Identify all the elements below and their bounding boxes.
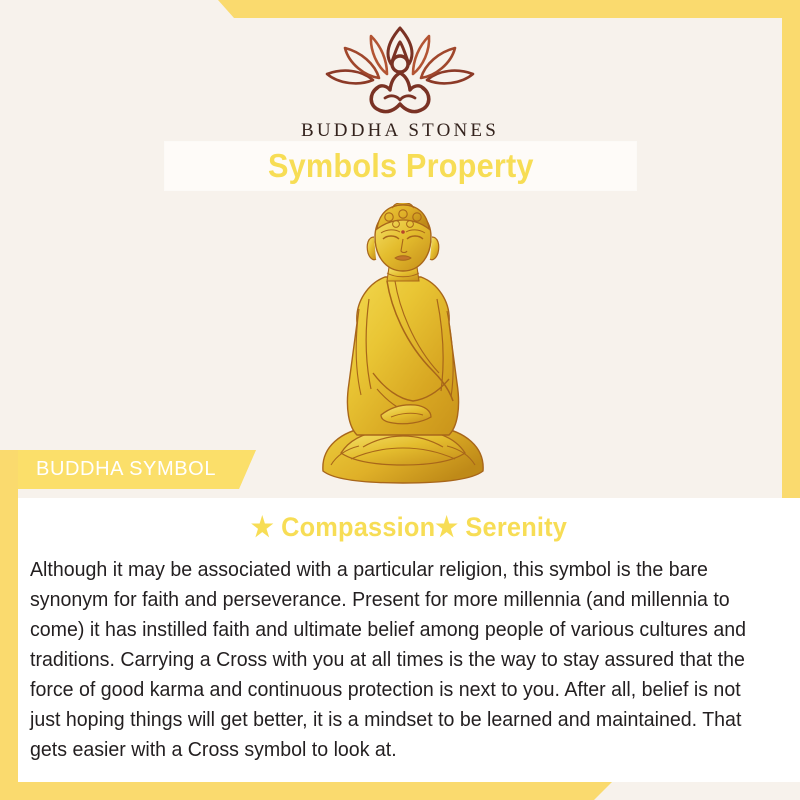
decorative-border-left: [0, 450, 18, 800]
brand-wordmark: BUDDHA STONES: [0, 120, 800, 142]
decorative-corner-bottom-left: [0, 782, 612, 800]
category-ribbon: BUDDHA SYMBOL: [0, 450, 256, 489]
title-banner: Symbols Property: [165, 142, 636, 190]
decorative-corner-top-right: [218, 0, 800, 18]
brand-logo-block: BUDDHA STONES: [0, 24, 800, 142]
description-paragraph: Although it may be associated with a par…: [30, 555, 775, 765]
category-ribbon-label: BUDDHA SYMBOL: [36, 458, 216, 481]
poster-canvas: BUDDHA STONES Symbols Property: [0, 0, 800, 800]
page-title: Symbols Property: [268, 147, 534, 185]
lotus-meditation-figure-icon: [315, 24, 485, 116]
attributes-headline: ★ Compassion★ Serenity: [41, 512, 776, 543]
content-card: ★ Compassion★ Serenity Although it may b…: [18, 498, 800, 782]
hero-image: [307, 203, 499, 495]
seated-golden-buddha-illustration: [307, 203, 499, 495]
